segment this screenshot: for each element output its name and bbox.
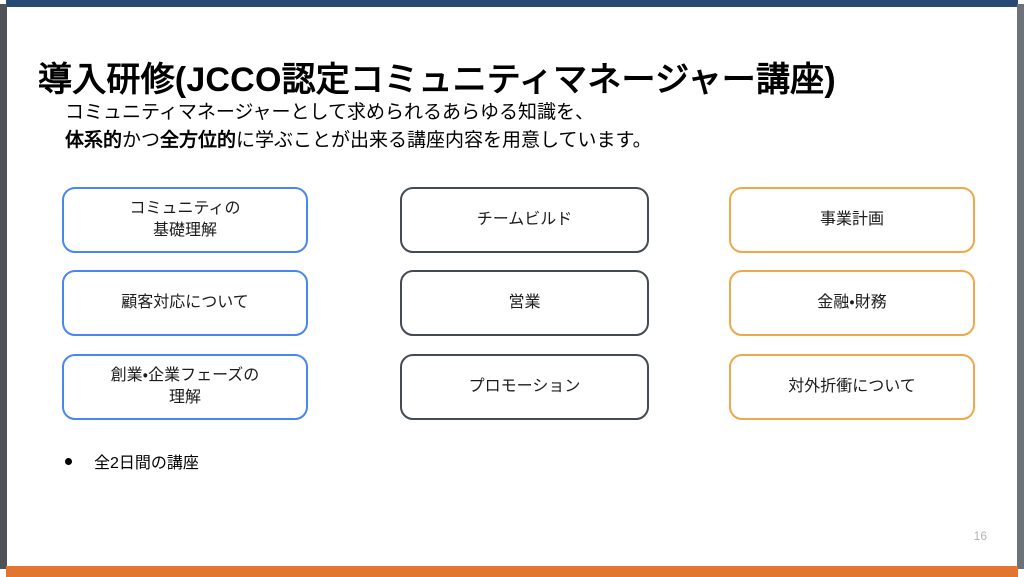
- slide-left-border: [0, 4, 7, 569]
- topic-card-line-2: 理解: [169, 389, 201, 406]
- topic-card[interactable]: プロモーション: [400, 354, 649, 420]
- topic-card-line-1: 顧客対応について: [121, 294, 249, 311]
- topic-card-label: 創業・企業フェーズの理解: [111, 365, 260, 409]
- subtitle-line-2: 体系的かつ全方位的に学ぶことが出来る講座内容を用意しています。: [65, 127, 965, 155]
- topic-card-line-1: 金融・財務: [817, 294, 886, 311]
- topic-card-label: コミュニティの基礎理解: [129, 198, 240, 242]
- topic-card[interactable]: 顧客対応について: [62, 270, 308, 336]
- subtitle-text-2: に学ぶことが出来る講座内容を用意しています。: [236, 130, 652, 151]
- topic-card[interactable]: 営業: [400, 270, 649, 336]
- topic-card-line-2: 基礎理解: [153, 222, 217, 239]
- slide-right-border: [1017, 4, 1024, 569]
- topic-card-label: 対外折衝について: [788, 376, 916, 398]
- topic-card-line-1: コミュニティの: [129, 200, 240, 217]
- page-number: 16: [974, 529, 987, 543]
- topic-card[interactable]: 金融・財務: [729, 270, 975, 336]
- subtitle-line-1: コミュニティマネージャーとして求められるあらゆる知識を、: [65, 99, 965, 127]
- topic-card[interactable]: 事業計画: [729, 187, 975, 253]
- topic-card[interactable]: 創業・企業フェーズの理解: [62, 354, 308, 420]
- subtitle-emphasis-2: 全方位的: [160, 130, 236, 151]
- slide-top-border: [6, 0, 1018, 7]
- topic-card-line-1: プロモーション: [469, 378, 581, 395]
- bullet-dot-icon: [65, 458, 72, 465]
- topic-card-line-1: 営業: [508, 294, 540, 311]
- topic-card-label: 事業計画: [820, 209, 884, 231]
- slide-bottom-border: [6, 566, 1018, 577]
- topic-card-label: プロモーション: [469, 376, 581, 398]
- topic-card[interactable]: 対外折衝について: [729, 354, 975, 420]
- topic-card-label: チームビルド: [477, 209, 573, 231]
- slide-subtitle: コミュニティマネージャーとして求められるあらゆる知識を、 体系的かつ全方位的に学…: [65, 99, 965, 154]
- bullet-list-item: 全2日間の講座: [65, 449, 199, 473]
- topic-card[interactable]: コミュニティの基礎理解: [62, 187, 308, 253]
- slide: 導入研修(JCCO認定コミュニティマネージャー講座) コミュニティマネージャーと…: [0, 0, 1024, 577]
- topic-card[interactable]: チームビルド: [400, 187, 649, 253]
- topic-card-line-1: チームビルド: [477, 211, 573, 228]
- slide-canvas: 導入研修(JCCO認定コミュニティマネージャー講座) コミュニティマネージャーと…: [7, 7, 1017, 566]
- topic-card-line-1: 事業計画: [820, 211, 884, 228]
- topic-card-line-1: 対外折衝について: [788, 378, 916, 395]
- subtitle-emphasis-1: 体系的: [65, 130, 122, 151]
- topic-card-line-1: 創業・企業フェーズの: [111, 367, 260, 384]
- topic-card-label: 顧客対応について: [121, 292, 249, 314]
- page-title: 導入研修(JCCO認定コミュニティマネージャー講座): [38, 61, 978, 100]
- topic-card-label: 金融・財務: [817, 292, 886, 314]
- bullet-item-label: 全2日間の講座: [94, 449, 199, 473]
- subtitle-text-1: かつ: [122, 130, 160, 151]
- topic-card-label: 営業: [508, 292, 540, 314]
